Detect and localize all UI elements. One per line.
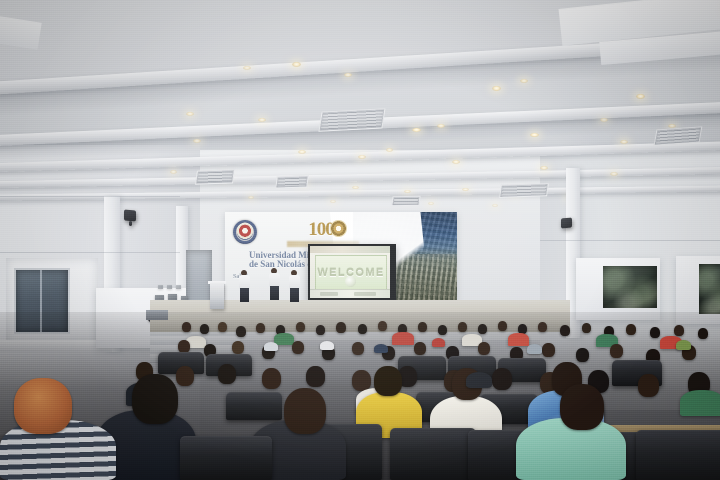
audience-head — [418, 322, 427, 332]
audience-head — [292, 341, 304, 354]
auditorium-photo: 100 Universidad Mich de San Nicolás de S… — [0, 0, 720, 480]
downlight-icon — [428, 202, 434, 205]
audience-head — [14, 378, 72, 434]
audience-head — [582, 323, 591, 333]
audience-head — [306, 366, 325, 387]
downlight-icon — [462, 188, 469, 191]
ceiling-vent — [275, 175, 309, 188]
downlight-icon — [452, 160, 460, 164]
audience-head — [650, 327, 660, 338]
downlight-icon — [243, 66, 251, 70]
audience-head — [674, 325, 684, 336]
slide-footer-bar — [310, 289, 390, 298]
audience-torso — [508, 333, 529, 346]
downlight-icon — [330, 200, 336, 203]
audience-head — [378, 321, 387, 331]
centenary-ring-icon — [330, 220, 347, 237]
audience-head — [478, 342, 490, 355]
downlight-icon — [620, 140, 628, 144]
downlight-icon — [636, 94, 645, 99]
audience-cap — [320, 341, 334, 350]
right-window-glass — [699, 264, 720, 314]
ceiling-vent — [195, 169, 235, 184]
audience-head — [352, 342, 364, 355]
wall-seam — [0, 196, 180, 197]
downlight-icon — [600, 118, 608, 122]
audience-head — [358, 324, 367, 334]
right-wall-speaker — [561, 218, 572, 229]
audience-head — [576, 348, 589, 362]
seat-back[interactable] — [226, 392, 282, 420]
downlight-icon — [540, 166, 548, 170]
wall-seam — [0, 252, 180, 253]
audience-head — [256, 323, 265, 333]
presenter-3 — [286, 270, 302, 306]
presenter-torso — [239, 275, 250, 289]
downlight-icon — [520, 79, 528, 83]
slide-globe-icon — [345, 276, 356, 287]
presenter-torso — [289, 275, 300, 289]
downlight-icon — [386, 148, 393, 152]
wall-art-panel — [176, 285, 181, 289]
screen-surface: WELCOME — [310, 246, 390, 298]
audience-cap — [432, 338, 445, 347]
audience-head — [492, 368, 512, 390]
downlight-icon — [292, 62, 301, 67]
downlight-icon — [344, 73, 352, 77]
audience-head — [232, 341, 244, 354]
downlight-icon — [298, 150, 306, 154]
audience-head — [498, 321, 507, 331]
downlight-icon — [492, 204, 498, 207]
audience-cap — [264, 342, 278, 351]
audience-head — [560, 325, 570, 336]
audience-head — [132, 374, 178, 424]
presenter-torso — [269, 273, 280, 287]
right-window-glass — [603, 266, 657, 308]
downlight-icon — [352, 186, 359, 189]
audience-cap — [676, 340, 691, 350]
presenter-1 — [236, 270, 252, 306]
audience-head — [458, 322, 467, 332]
audience-head — [538, 322, 547, 332]
audience-head — [218, 364, 236, 384]
audience-torso — [680, 390, 720, 416]
downlight-icon — [404, 190, 411, 193]
empty-seat[interactable] — [390, 428, 476, 480]
audience-cap — [374, 344, 388, 353]
downlight-icon — [492, 86, 501, 91]
presenter-legs — [290, 288, 299, 302]
audience-head — [218, 322, 227, 332]
downlight-icon — [193, 139, 201, 143]
downlight-icon — [258, 118, 266, 122]
empty-seat[interactable] — [636, 430, 720, 480]
downlight-icon — [530, 133, 539, 137]
ceiling-vent — [499, 183, 549, 198]
audience-head — [296, 322, 305, 332]
downlight-icon — [412, 128, 421, 132]
presenter-legs — [270, 286, 279, 300]
downlight-icon — [186, 112, 194, 116]
tripod-projection-screen: WELCOME — [308, 244, 396, 304]
presenter-2 — [266, 268, 282, 306]
audience-head — [698, 328, 708, 339]
presenter-legs — [240, 288, 249, 302]
audience-head — [316, 325, 325, 335]
left-wall-speaker-bracket — [129, 221, 132, 226]
downlight-icon — [170, 170, 177, 174]
audience-head — [336, 322, 346, 333]
audience-head — [262, 368, 281, 389]
lectern — [210, 283, 224, 309]
ceiling-vent — [318, 108, 385, 132]
audience-head — [374, 366, 402, 396]
ceiling-vent — [391, 196, 420, 207]
centenary-logo: 100 — [293, 216, 349, 242]
audience-head — [626, 324, 636, 335]
wall-seam — [540, 240, 720, 241]
empty-seat[interactable] — [180, 436, 272, 480]
audience-head — [236, 326, 246, 337]
audience-head — [560, 384, 604, 430]
audience-head — [638, 374, 659, 397]
audience-head — [176, 366, 194, 386]
wall-art-panel — [167, 285, 172, 289]
audience-torso — [392, 332, 414, 345]
downlight-icon — [437, 124, 445, 128]
audience-head — [414, 342, 426, 355]
audience-cap — [466, 372, 492, 388]
left-wall-speaker — [124, 209, 136, 221]
umsnh-crest-icon — [233, 220, 257, 244]
audience-head — [542, 343, 555, 357]
audience-head — [610, 344, 623, 358]
audience-head — [438, 325, 447, 335]
slide-header-bar — [310, 246, 390, 253]
banner-institution-line-2: de San Nicolás de — [249, 259, 316, 269]
slide-button-right — [354, 292, 376, 296]
audience-head — [182, 322, 191, 332]
audience-head — [478, 324, 487, 334]
downlight-icon — [610, 172, 618, 176]
wall-art-panel — [158, 285, 163, 289]
slide-button-left — [320, 292, 338, 296]
audience-cap — [527, 344, 542, 354]
audience-head — [284, 388, 326, 434]
ceiling-vent — [654, 126, 703, 145]
downlight-icon — [358, 155, 366, 159]
downlight-icon — [248, 196, 254, 199]
audience-head — [200, 324, 209, 334]
